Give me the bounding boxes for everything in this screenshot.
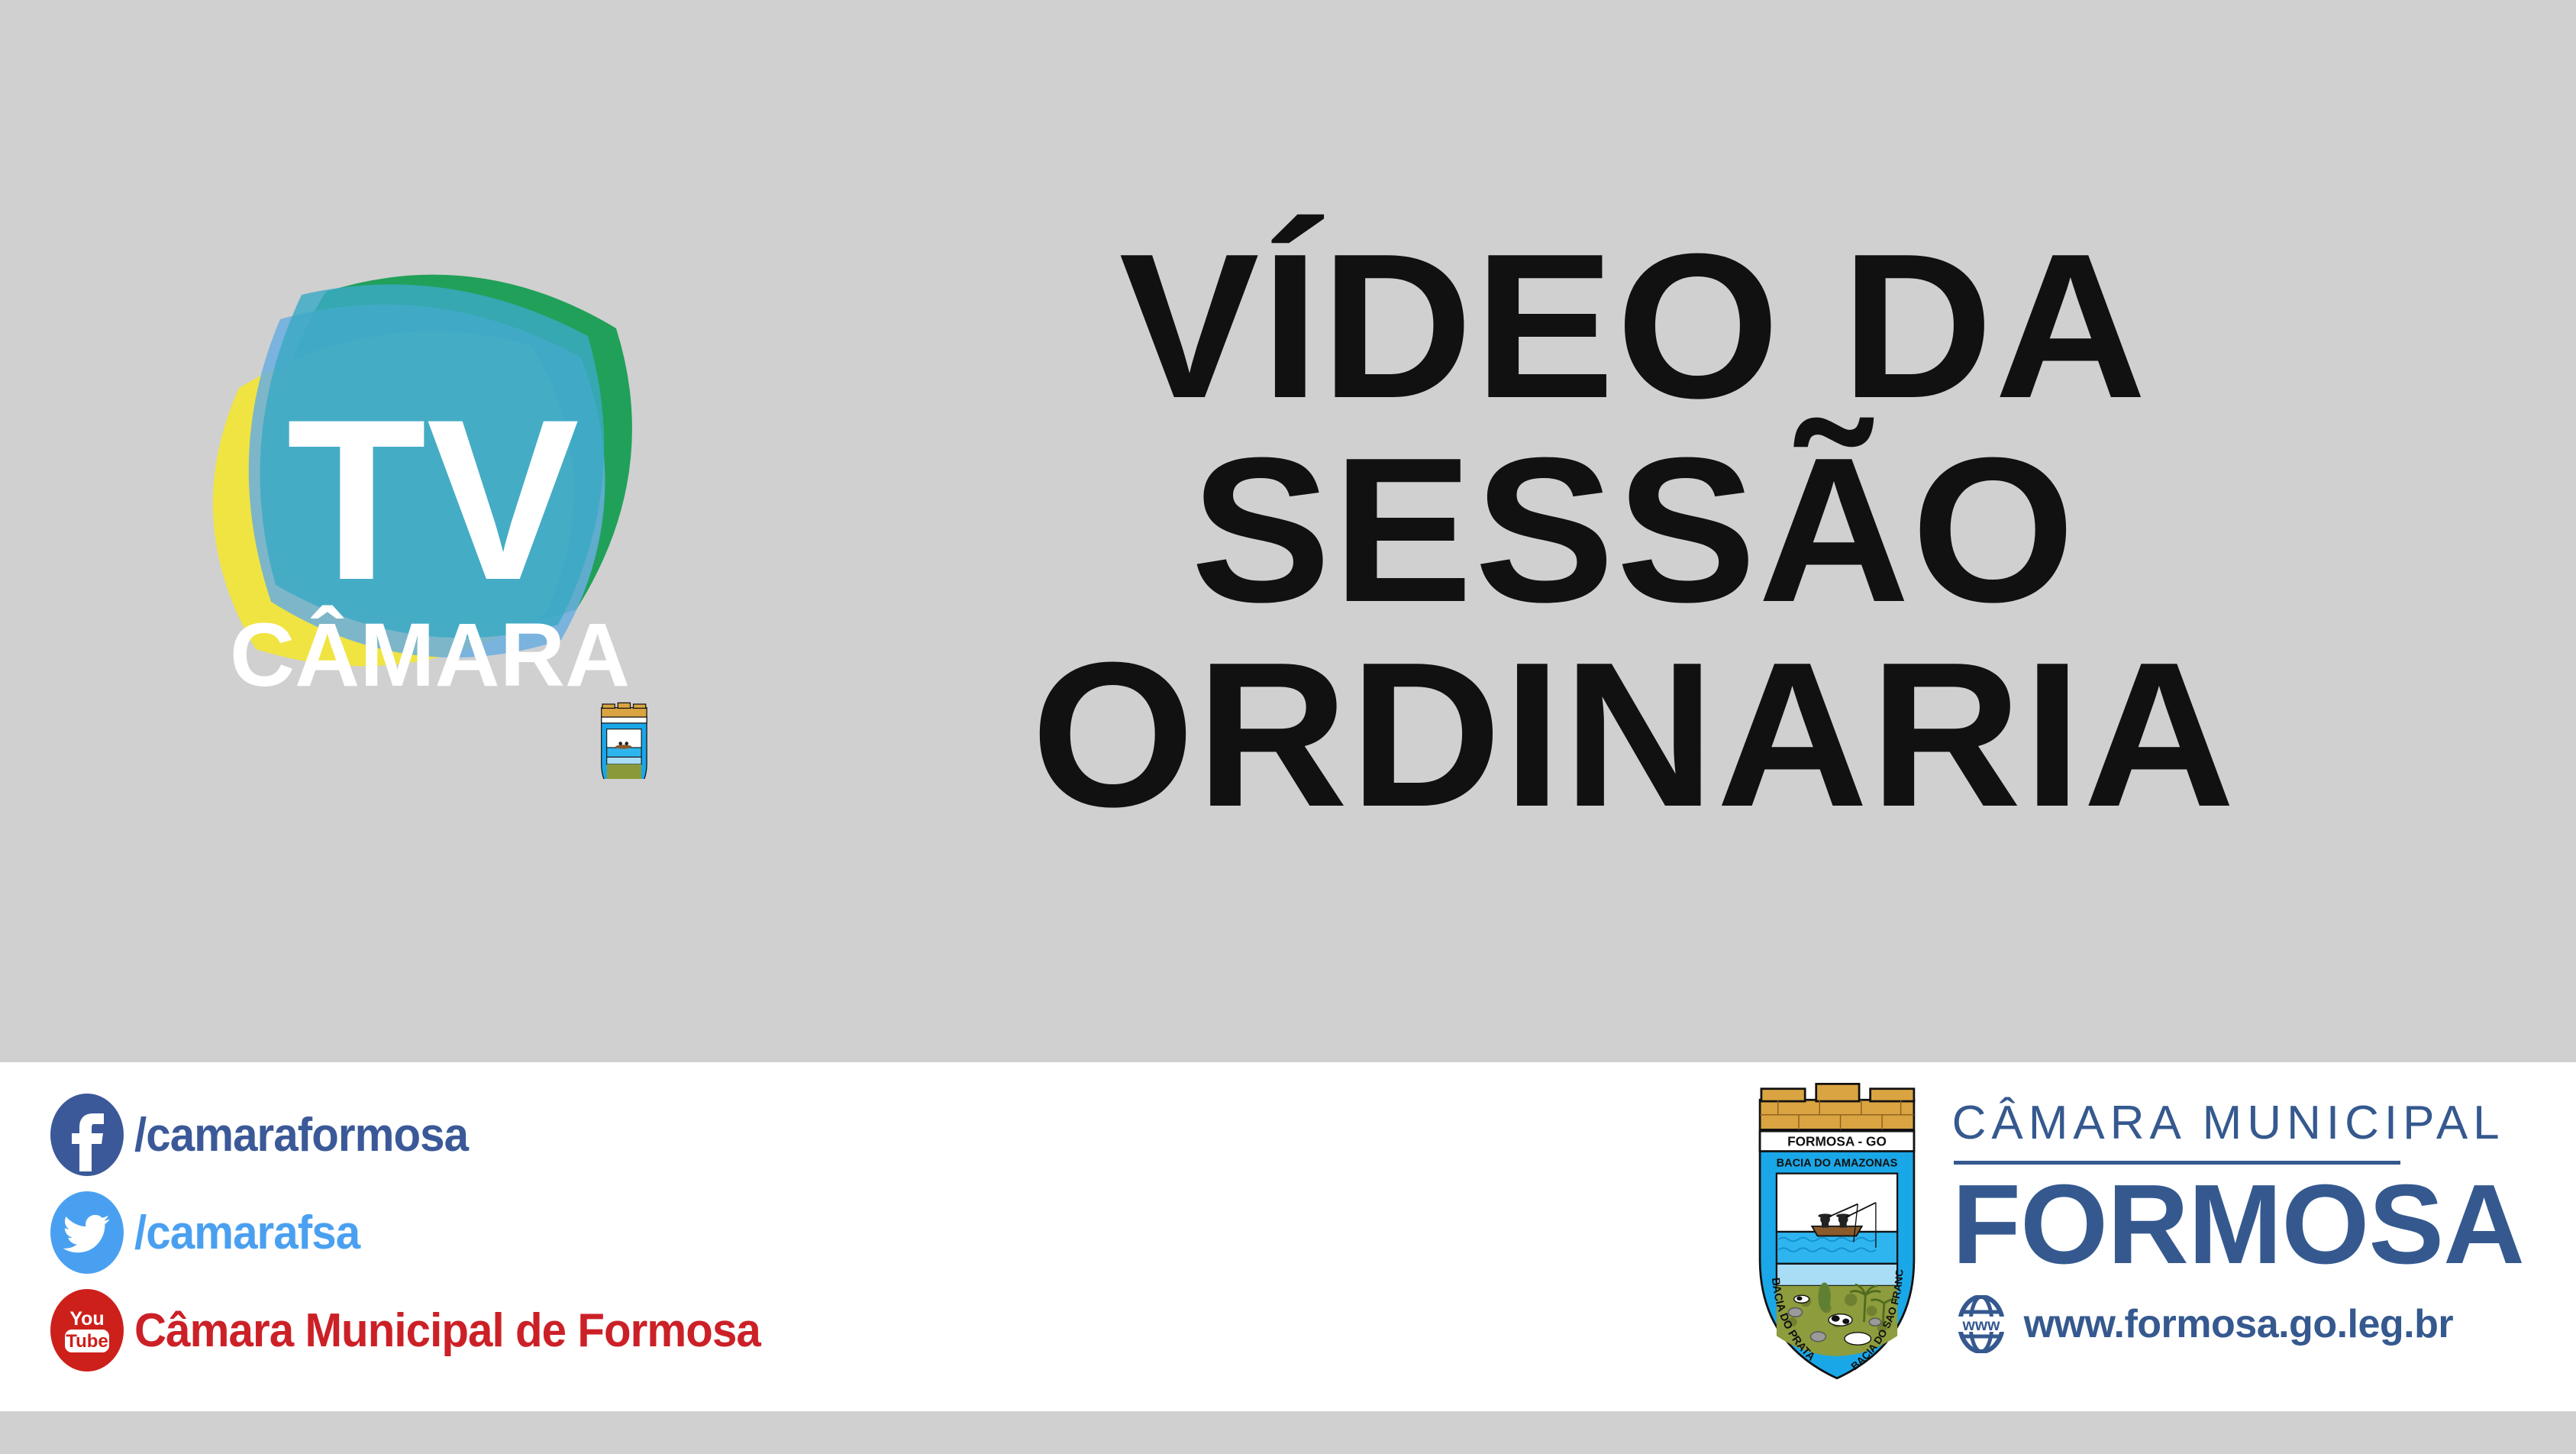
social-links: /camaraformosa /camarafsa You Tube: [50, 1090, 800, 1375]
svg-text:You: You: [69, 1308, 104, 1330]
brasao-formosa-icon: FORMOSA - GO BACIA DO AMAZONAS: [1749, 1079, 1925, 1385]
facebook-icon[interactable]: [50, 1094, 124, 1176]
svg-text:Tube: Tube: [66, 1331, 108, 1352]
hero-section: TV CÂMARA: [0, 0, 2576, 1062]
social-row-youtube[interactable]: You Tube Câmara Municipal de Formosa: [50, 1285, 800, 1375]
brand-text-block: CÂMARA MUNICIPAL FORMOSA www: [1952, 1079, 2524, 1353]
logo-mini-brasao: [602, 703, 647, 779]
www-globe-icon: www: [1952, 1295, 2010, 1353]
logo-text-tv: TV: [286, 371, 580, 628]
title-line-1: VÍDEO DA: [1119, 225, 2148, 428]
facebook-handle[interactable]: /camaraformosa: [134, 1108, 468, 1162]
brand-line-top: CÂMARA MUNICIPAL: [1952, 1096, 2524, 1150]
mural-crown: [1760, 1084, 1914, 1129]
social-row-facebook[interactable]: /camaraformosa: [50, 1090, 800, 1180]
twitter-icon[interactable]: [50, 1191, 124, 1274]
brand-url-row[interactable]: www www.formosa.go.leg.br: [1952, 1295, 2524, 1353]
brasao-top-label: BACIA DO AMAZONAS: [1776, 1158, 1897, 1170]
youtube-icon[interactable]: You Tube: [50, 1289, 124, 1372]
youtube-handle[interactable]: Câmara Municipal de Formosa: [134, 1304, 760, 1358]
title-line-3: ORDINARIA: [1031, 633, 2237, 837]
twitter-handle[interactable]: /camarafsa: [134, 1206, 360, 1260]
logo-text-camara: CÂMARA: [230, 604, 630, 706]
poster-canvas: TV CÂMARA: [0, 0, 2576, 1454]
brand-url-text[interactable]: www.formosa.go.leg.br: [2024, 1301, 2454, 1347]
footer-bar: /camaraformosa /camarafsa You Tube: [0, 1062, 2576, 1411]
bottom-strip: [0, 1411, 2576, 1454]
title-line-2: SESSÃO: [1191, 428, 2077, 632]
tv-camara-logo: TV CÂMARA: [149, 221, 706, 779]
svg-text:www: www: [1961, 1317, 2000, 1334]
brand-lockup: FORMOSA - GO BACIA DO AMAZONAS: [1749, 1079, 2524, 1385]
brand-line-main: FORMOSA: [1952, 1168, 2524, 1283]
poster-title: VÍDEO DA SESSÃO ORDINARIA: [718, 46, 2550, 1016]
brasao-banner-text: FORMOSA - GO: [1787, 1134, 1887, 1149]
social-row-twitter[interactable]: /camarafsa: [50, 1187, 800, 1278]
